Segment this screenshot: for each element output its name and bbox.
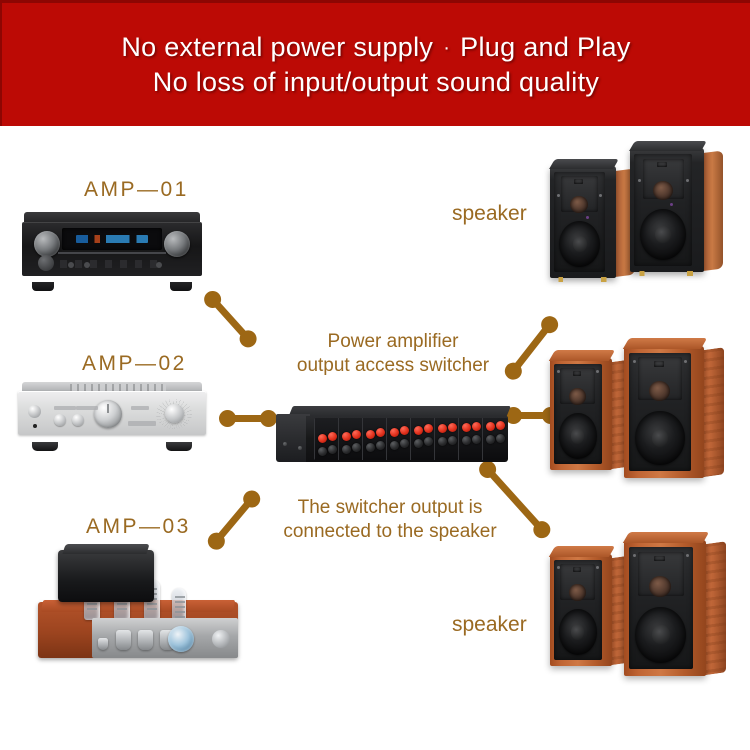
label-switcher-output-note: The switcher output is connected to the … (245, 496, 535, 545)
binding-post-red[interactable] (438, 424, 447, 433)
amp02-foot (32, 442, 58, 451)
binding-post-red[interactable] (462, 423, 471, 432)
amp02-power-button[interactable] (28, 405, 41, 418)
label-amp-03: AMP—03 (86, 515, 191, 539)
switcher-channel[interactable] (362, 418, 387, 460)
amp01-divider (58, 252, 166, 254)
speaker-cabinet-top (629, 141, 707, 151)
speaker-right[interactable] (624, 540, 706, 676)
speaker-badge (670, 203, 673, 206)
binding-post-black[interactable] (352, 443, 361, 452)
amp03-knob[interactable] (138, 630, 153, 650)
amp01-button-row[interactable] (60, 260, 164, 268)
speaker-baffle (634, 154, 692, 266)
amp02-small-knob[interactable] (54, 414, 66, 426)
binding-post-red[interactable] (472, 422, 481, 431)
diagram-canvas: No external power supply·Plug and Play N… (0, 0, 750, 750)
amp02-label-mark (131, 406, 149, 410)
label-switcher-output-note-line1: The switcher output is (245, 496, 535, 520)
banner-text-plug-and-play: Plug and Play (460, 32, 631, 62)
binding-post-black[interactable] (438, 437, 447, 446)
amp03-output-post[interactable] (212, 630, 230, 648)
binding-post-red[interactable] (352, 430, 361, 439)
binding-post-red[interactable] (448, 423, 457, 432)
amp02-foot (166, 442, 192, 451)
binding-post-black[interactable] (390, 441, 399, 450)
speaker-ribbon-tweeter (657, 162, 667, 167)
switcher-screw (298, 446, 302, 450)
speaker-midrange-driver (653, 181, 673, 200)
speaker-screw (686, 179, 689, 182)
label-speaker-bottom: speaker (452, 613, 527, 637)
speaker-screw (684, 360, 687, 363)
binding-post-black[interactable] (342, 445, 351, 454)
switcher-channel[interactable] (458, 418, 483, 460)
speaker-left[interactable] (550, 166, 616, 278)
speaker-pair-top[interactable] (548, 146, 744, 278)
switcher-channel[interactable] (314, 418, 339, 460)
speaker-ribbon-tweeter (573, 567, 581, 572)
label-speaker-top: speaker (452, 202, 527, 226)
label-switcher-title: Power amplifier output access switcher (268, 330, 518, 379)
binding-post-red[interactable] (486, 422, 495, 431)
amp01-foot (32, 282, 54, 291)
speaker-pair-middle[interactable] (546, 338, 746, 478)
label-amp-01: AMP—01 (84, 178, 189, 202)
amp01-left-knob[interactable] (34, 231, 60, 257)
speaker-cabinet-top (623, 338, 707, 349)
speaker-cabinet-top (549, 350, 615, 361)
switcher-screw (283, 442, 287, 446)
amp01-power-button[interactable] (38, 255, 54, 271)
amp03-toggle[interactable] (98, 638, 108, 650)
switcher-channel[interactable] (410, 418, 435, 460)
binding-post-black[interactable] (486, 435, 495, 444)
switcher-terminal-panel[interactable] (314, 418, 508, 460)
amp01-input-jack[interactable] (68, 262, 74, 268)
speaker-baffle (629, 353, 691, 472)
speaker-midrange-driver (649, 576, 671, 597)
label-switcher-title-line2: output access switcher (268, 354, 518, 378)
speaker-cabinet-top (623, 532, 709, 543)
speaker-right[interactable] (624, 346, 704, 478)
speaker-ribbon-tweeter (654, 361, 665, 367)
binding-post-black[interactable] (414, 439, 423, 448)
amp01-input-jack[interactable] (84, 262, 90, 268)
amp03-transformer-cover (58, 550, 154, 602)
amp02-vent-grille (70, 384, 166, 391)
speaker-woofer (635, 607, 686, 663)
amp02-input-selector-knob[interactable] (165, 404, 184, 423)
speaker-woofer (635, 411, 685, 466)
speaker-screw (557, 566, 560, 569)
device-switcher[interactable] (276, 406, 508, 468)
speaker-feet (636, 271, 698, 276)
speaker-feet (555, 277, 610, 282)
header-banner: No external power supply·Plug and Play N… (0, 0, 750, 126)
speaker-midrange-driver (570, 196, 587, 213)
binding-post-red[interactable] (328, 432, 337, 441)
speaker-screw (638, 179, 641, 182)
speaker-cabinet-top (549, 546, 615, 557)
speaker-cabinet-top (549, 159, 619, 169)
binding-post-black[interactable] (376, 441, 385, 450)
speaker-baffle (554, 364, 602, 465)
speaker-pair-bottom[interactable] (546, 528, 746, 676)
switcher-channel[interactable] (482, 418, 507, 460)
speaker-woofer (559, 413, 598, 459)
amp02-power-led (33, 424, 37, 428)
amp02-volume-knob[interactable] (94, 400, 122, 428)
speaker-screw (557, 194, 560, 197)
speaker-woofer (559, 609, 598, 655)
speaker-right[interactable] (630, 148, 704, 272)
speaker-baffle (629, 547, 693, 669)
label-switcher-output-note-line2: connected to the speaker (245, 520, 535, 544)
speaker-midrange-driver (569, 388, 585, 405)
speaker-badge (586, 216, 589, 219)
speaker-midrange-driver (569, 584, 585, 601)
binding-post-red[interactable] (342, 432, 351, 441)
connector-amp01-to-switcher (212, 298, 249, 340)
banner-separator-dot: · (433, 37, 460, 59)
speaker-screw (557, 370, 560, 373)
connector-endpoint-dot (219, 410, 236, 427)
binding-post-red[interactable] (414, 426, 423, 435)
amp01-input-jack[interactable] (156, 262, 162, 268)
binding-post-red[interactable] (390, 428, 399, 437)
speaker-screw (596, 566, 599, 569)
speaker-ribbon-tweeter (574, 179, 583, 184)
binding-post-red[interactable] (366, 430, 375, 439)
amp01-front-panel (22, 222, 202, 276)
banner-text-no-external-power: No external power supply (121, 32, 433, 62)
speaker-screw (686, 554, 689, 557)
speaker-baffle (554, 172, 605, 273)
amp03-vacuum-tube (172, 588, 186, 620)
binding-post-black[interactable] (496, 434, 505, 443)
banner-line-1: No external power supply·Plug and Play (121, 32, 630, 63)
speaker-left[interactable] (550, 554, 612, 666)
switcher-channel[interactable] (434, 418, 459, 460)
speaker-woofer (640, 209, 686, 260)
binding-post-black[interactable] (462, 436, 471, 445)
switcher-left-side (276, 414, 310, 462)
speaker-woofer (559, 221, 600, 267)
amp02-button-strip[interactable] (128, 421, 156, 426)
amp03-vu-dial (168, 626, 194, 652)
amp01-volume-knob[interactable] (164, 231, 190, 257)
label-switcher-title-line1: Power amplifier (268, 330, 518, 354)
switcher-channel[interactable] (386, 418, 411, 460)
binding-post-black[interactable] (318, 447, 327, 456)
speaker-screw (633, 360, 636, 363)
amp02-small-knob[interactable] (72, 414, 84, 426)
amp01-foot (170, 282, 192, 291)
speaker-ribbon-tweeter (654, 556, 665, 562)
amp02-label-mark (76, 406, 98, 410)
binding-post-red[interactable] (424, 424, 433, 433)
amp03-knob[interactable] (116, 630, 131, 650)
binding-post-black[interactable] (424, 437, 433, 446)
amp03-front-chassis (92, 618, 238, 658)
device-amp-02[interactable] (18, 382, 206, 444)
amp01-display (62, 228, 162, 250)
binding-post-black[interactable] (328, 445, 337, 454)
speaker-ribbon-tweeter (573, 371, 581, 376)
speaker-baffle (554, 560, 602, 661)
speaker-screw (633, 554, 636, 557)
speaker-left[interactable] (550, 358, 612, 470)
binding-post-black[interactable] (366, 443, 375, 452)
banner-line-2: No loss of input/output sound quality (153, 67, 599, 98)
label-amp-02: AMP—02 (82, 352, 187, 376)
speaker-screw (599, 194, 602, 197)
connector-endpoint-dot (260, 410, 277, 427)
binding-post-red[interactable] (496, 421, 505, 430)
binding-post-red[interactable] (400, 426, 409, 435)
device-amp-01[interactable] (22, 212, 202, 284)
binding-post-black[interactable] (472, 435, 481, 444)
binding-post-red[interactable] (318, 434, 327, 443)
binding-post-black[interactable] (400, 439, 409, 448)
amp02-label-mark (54, 406, 76, 410)
switcher-channel[interactable] (338, 418, 363, 460)
amp01-display-text (76, 235, 148, 243)
amp02-front-panel (18, 391, 206, 435)
device-amp-03[interactable] (38, 548, 238, 658)
speaker-screw (596, 370, 599, 373)
binding-post-red[interactable] (376, 428, 385, 437)
binding-post-black[interactable] (448, 436, 457, 445)
